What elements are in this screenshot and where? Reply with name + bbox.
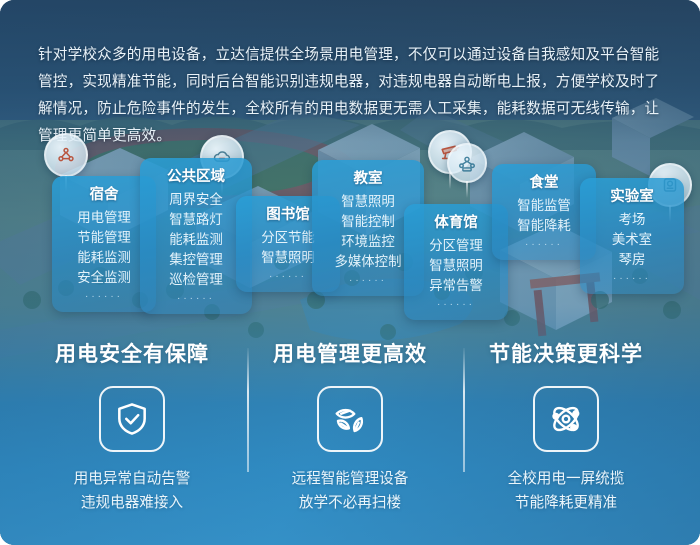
map-card-item: 智慧照明 bbox=[414, 256, 498, 276]
smart-gateway-icon bbox=[447, 143, 487, 183]
feature-subline-2: 违规电器难接入 bbox=[32, 491, 232, 515]
map-card-title: 实验室 bbox=[590, 187, 674, 208]
map-card-more: ······ bbox=[62, 290, 146, 304]
map-card-item: 考场 bbox=[590, 210, 674, 230]
map-card-item: 智能控制 bbox=[322, 212, 414, 232]
feature-efficiency: 用电管理更高效 远程智能管理设备 放学不必再扫楼 bbox=[250, 340, 450, 515]
map-card-item: 分区管理 bbox=[414, 236, 498, 256]
feature-subline-2: 节能降耗更精准 bbox=[466, 491, 666, 515]
map-card-item: 美术室 bbox=[590, 230, 674, 250]
map-card-item: 节能管理 bbox=[62, 228, 146, 248]
map-card-more: ······ bbox=[322, 274, 414, 288]
feature-safety: 用电安全有保障 用电异常自动告警 违规电器难接入 bbox=[32, 340, 232, 515]
map-card-item: 能耗监测 bbox=[150, 230, 242, 250]
map-card-item: 智能监管 bbox=[502, 196, 586, 216]
map-card-item: 智能降耗 bbox=[502, 216, 586, 236]
map-card-title: 宿舍 bbox=[62, 185, 146, 206]
map-card-title: 食堂 bbox=[502, 173, 586, 194]
map-card-item: 异常告警 bbox=[414, 276, 498, 296]
feature-heading: 节能决策更科学 bbox=[466, 340, 666, 370]
badge-stem bbox=[466, 181, 468, 198]
feature-divider bbox=[247, 348, 249, 472]
map-card-more: ······ bbox=[414, 298, 498, 312]
feature-divider bbox=[463, 348, 465, 472]
map-card-item: 环境监控 bbox=[322, 232, 414, 252]
map-card-title: 公共区域 bbox=[150, 167, 242, 188]
atom-icon bbox=[533, 386, 599, 452]
map-card-item: 能耗监测 bbox=[62, 248, 146, 268]
feature-subline-1: 全校用电一屏统揽 bbox=[466, 467, 666, 491]
map-card-more: ······ bbox=[590, 272, 674, 286]
map-card-item: 用电管理 bbox=[62, 208, 146, 228]
feature-subline-1: 远程智能管理设备 bbox=[250, 467, 450, 491]
map-card-item: 集控管理 bbox=[150, 250, 242, 270]
feature-subline-2: 放学不必再扫楼 bbox=[250, 491, 450, 515]
feature-subline-1: 用电异常自动告警 bbox=[32, 467, 232, 491]
map-card-item: 巡检管理 bbox=[150, 270, 242, 290]
feature-decision: 节能决策更科学 全校用电一屏统揽 节能降耗更精准 bbox=[466, 340, 666, 515]
map-card-more: ······ bbox=[502, 238, 586, 252]
map-card-item: 琴房 bbox=[590, 250, 674, 270]
promo-banner: 针对学校众多的用电设备，立达信提供全场景用电管理，不仅可以通过设备自我感知及平台… bbox=[0, 0, 700, 545]
map-card-item: 安全监测 bbox=[62, 268, 146, 288]
map-card-item: 智慧路灯 bbox=[150, 210, 242, 230]
intro-paragraph: 针对学校众多的用电设备，立达信提供全场景用电管理，不仅可以通过设备自我感知及平台… bbox=[38, 42, 664, 150]
feature-row: 用电安全有保障 用电异常自动告警 违规电器难接入 用电管理更高效 bbox=[0, 340, 700, 545]
feature-heading: 用电管理更高效 bbox=[250, 340, 450, 370]
map-card-item: 周界安全 bbox=[150, 190, 242, 210]
feature-heading: 用电安全有保障 bbox=[32, 340, 232, 370]
map-card-item: 智慧照明 bbox=[322, 192, 414, 212]
map-card-laboratory[interactable]: 实验室 考场 美术室 琴房 ······ bbox=[580, 178, 684, 294]
map-card-title: 教室 bbox=[322, 169, 414, 190]
shield-check-icon bbox=[99, 386, 165, 452]
leaves-icon bbox=[317, 386, 383, 452]
sensor-node-icon bbox=[44, 133, 88, 177]
map-card-more: ······ bbox=[150, 292, 242, 306]
map-card-item: 多媒体控制 bbox=[322, 252, 414, 272]
map-card-title: 体育馆 bbox=[414, 213, 498, 234]
